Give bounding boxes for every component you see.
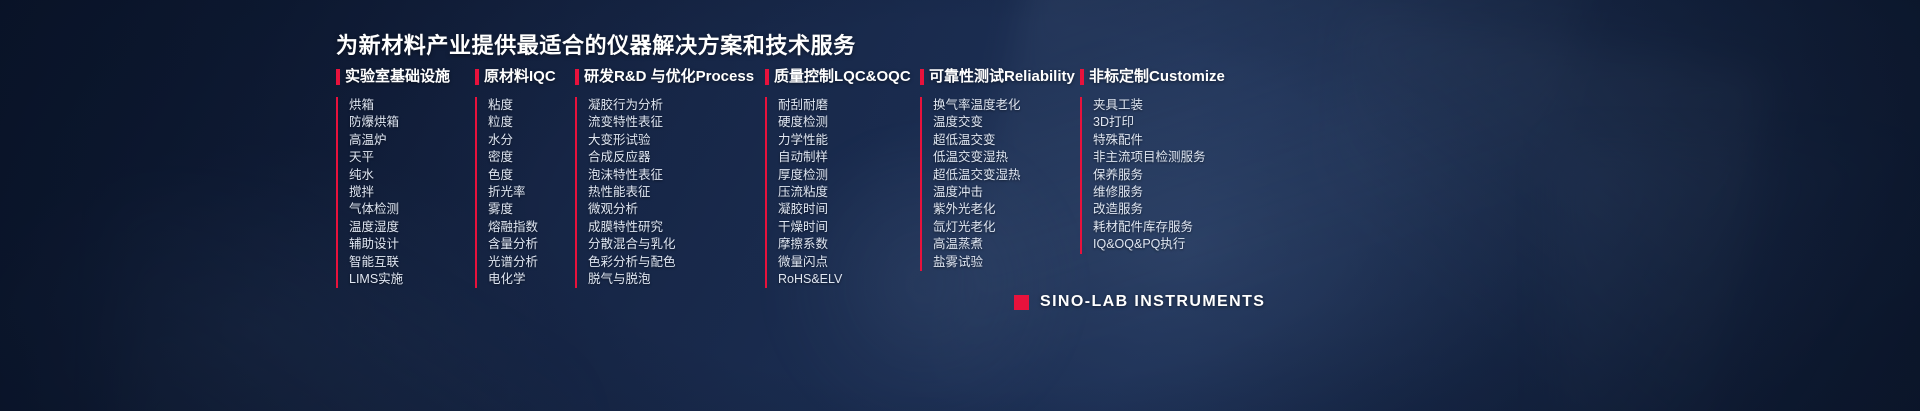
service-item[interactable]: 天平 — [349, 149, 475, 166]
service-item[interactable]: 水分 — [488, 132, 575, 149]
service-item[interactable]: 摩擦系数 — [778, 236, 920, 253]
service-item[interactable]: 维修服务 — [1093, 184, 1270, 201]
service-item[interactable]: 硬度检测 — [778, 114, 920, 131]
service-item[interactable]: 含量分析 — [488, 236, 575, 253]
service-item[interactable]: 低温交变湿热 — [933, 149, 1080, 166]
service-item[interactable]: 氙灯光老化 — [933, 219, 1080, 236]
service-item[interactable]: 高温蒸煮 — [933, 236, 1080, 253]
service-column-header: 非标定制Customize — [1080, 68, 1270, 86]
service-item[interactable]: 色彩分析与配色 — [588, 254, 765, 271]
service-item[interactable]: 色度 — [488, 167, 575, 184]
service-item[interactable]: 雾度 — [488, 201, 575, 218]
service-column: 非标定制Customize夹具工装3D打印特殊配件非主流项目检测服务保养服务维修… — [1080, 68, 1270, 254]
service-item[interactable]: 折光率 — [488, 184, 575, 201]
service-columns: 实验室基础设施烘箱防爆烘箱高温炉天平纯水搅拌气体检测温度湿度辅助设计智能互联LI… — [336, 68, 1270, 288]
service-column-header: 可靠性测试Reliability — [920, 68, 1080, 86]
service-item[interactable]: 气体检测 — [349, 201, 475, 218]
service-item[interactable]: 力学性能 — [778, 132, 920, 149]
service-item[interactable]: 改造服务 — [1093, 201, 1270, 218]
service-item-list: 夹具工装3D打印特殊配件非主流项目检测服务保养服务维修服务改造服务耗材配件库存服… — [1080, 97, 1270, 254]
banner-content: 为新材料产业提供最适合的仪器解决方案和技术服务 实验室基础设施烘箱防爆烘箱高温炉… — [0, 0, 1920, 411]
service-item[interactable]: RoHS&ELV — [778, 271, 920, 288]
service-column: 可靠性测试Reliability换气率温度老化温度交变超低温交变低温交变湿热超低… — [920, 68, 1080, 271]
service-column: 质量控制LQC&OQC耐刮耐磨硬度检测力学性能自动制样厚度检测压流粘度凝胶时间干… — [765, 68, 920, 288]
service-item-list: 粘度粒度水分密度色度折光率雾度熔融指数含量分析光谱分析电化学 — [475, 97, 575, 288]
service-item[interactable]: 粘度 — [488, 97, 575, 114]
service-item[interactable]: 非主流项目检测服务 — [1093, 149, 1270, 166]
service-item[interactable]: 盐雾试验 — [933, 254, 1080, 271]
brand-logo: SINO-LAB INSTRUMENTS — [1014, 293, 1265, 311]
service-item[interactable]: 压流粘度 — [778, 184, 920, 201]
service-item[interactable]: 凝胶时间 — [778, 201, 920, 218]
service-item[interactable]: 热性能表征 — [588, 184, 765, 201]
service-item[interactable]: 纯水 — [349, 167, 475, 184]
service-item[interactable]: 烘箱 — [349, 97, 475, 114]
service-item[interactable]: 成膜特性研究 — [588, 219, 765, 236]
service-item[interactable]: 微观分析 — [588, 201, 765, 218]
service-item[interactable]: 光谱分析 — [488, 254, 575, 271]
service-item[interactable]: 泡沫特性表征 — [588, 167, 765, 184]
service-item[interactable]: 干燥时间 — [778, 219, 920, 236]
service-item[interactable]: 微量闪点 — [778, 254, 920, 271]
service-column: 原材料IQC粘度粒度水分密度色度折光率雾度熔融指数含量分析光谱分析电化学 — [475, 68, 575, 288]
service-item[interactable]: 温度冲击 — [933, 184, 1080, 201]
service-item-list: 凝胶行为分析流变特性表征大变形试验合成反应器泡沫特性表征热性能表征微观分析成膜特… — [575, 97, 765, 288]
service-item[interactable]: 智能互联 — [349, 254, 475, 271]
service-item[interactable]: 温度交变 — [933, 114, 1080, 131]
service-item[interactable]: 超低温交变 — [933, 132, 1080, 149]
service-item[interactable]: 合成反应器 — [588, 149, 765, 166]
service-item[interactable]: 粒度 — [488, 114, 575, 131]
service-item-list: 烘箱防爆烘箱高温炉天平纯水搅拌气体检测温度湿度辅助设计智能互联LIMS实施 — [336, 97, 475, 288]
service-item[interactable]: 脱气与脱泡 — [588, 271, 765, 288]
service-item[interactable]: 电化学 — [488, 271, 575, 288]
service-column-header: 质量控制LQC&OQC — [765, 68, 920, 86]
service-item[interactable]: 换气率温度老化 — [933, 97, 1080, 114]
service-column: 实验室基础设施烘箱防爆烘箱高温炉天平纯水搅拌气体检测温度湿度辅助设计智能互联LI… — [336, 68, 475, 288]
service-item[interactable]: LIMS实施 — [349, 271, 475, 288]
service-item[interactable]: 熔融指数 — [488, 219, 575, 236]
service-item[interactable]: 保养服务 — [1093, 167, 1270, 184]
service-column: 研发R&D 与优化Process凝胶行为分析流变特性表征大变形试验合成反应器泡沫… — [575, 68, 765, 288]
service-item[interactable]: 自动制样 — [778, 149, 920, 166]
page-title: 为新材料产业提供最适合的仪器解决方案和技术服务 — [336, 28, 856, 60]
service-item[interactable]: 分散混合与乳化 — [588, 236, 765, 253]
service-column-header: 实验室基础设施 — [336, 68, 475, 86]
service-item[interactable]: 夹具工装 — [1093, 97, 1270, 114]
service-item[interactable]: 特殊配件 — [1093, 132, 1270, 149]
banner-root: 为新材料产业提供最适合的仪器解决方案和技术服务 实验室基础设施烘箱防爆烘箱高温炉… — [0, 0, 1920, 411]
service-item[interactable]: 辅助设计 — [349, 236, 475, 253]
service-item[interactable]: 紫外光老化 — [933, 201, 1080, 218]
service-item[interactable]: 凝胶行为分析 — [588, 97, 765, 114]
service-item[interactable]: 搅拌 — [349, 184, 475, 201]
service-item[interactable]: 3D打印 — [1093, 114, 1270, 131]
service-item[interactable]: 厚度检测 — [778, 167, 920, 184]
service-item[interactable]: 耐刮耐磨 — [778, 97, 920, 114]
service-item[interactable]: 大变形试验 — [588, 132, 765, 149]
service-item[interactable]: 温度湿度 — [349, 219, 475, 236]
service-item-list: 换气率温度老化温度交变超低温交变低温交变湿热超低温交变湿热温度冲击紫外光老化氙灯… — [920, 97, 1080, 271]
service-item[interactable]: 超低温交变湿热 — [933, 167, 1080, 184]
service-item[interactable]: 防爆烘箱 — [349, 114, 475, 131]
service-item[interactable]: 密度 — [488, 149, 575, 166]
service-item[interactable]: IQ&OQ&PQ执行 — [1093, 236, 1270, 253]
square-mark-icon — [1014, 295, 1029, 310]
service-item-list: 耐刮耐磨硬度检测力学性能自动制样厚度检测压流粘度凝胶时间干燥时间摩擦系数微量闪点… — [765, 97, 920, 288]
service-item[interactable]: 耗材配件库存服务 — [1093, 219, 1270, 236]
service-column-header: 研发R&D 与优化Process — [575, 68, 765, 86]
service-item[interactable]: 流变特性表征 — [588, 114, 765, 131]
brand-name: SINO-LAB INSTRUMENTS — [1040, 293, 1265, 311]
service-item[interactable]: 高温炉 — [349, 132, 475, 149]
service-column-header: 原材料IQC — [475, 68, 575, 86]
